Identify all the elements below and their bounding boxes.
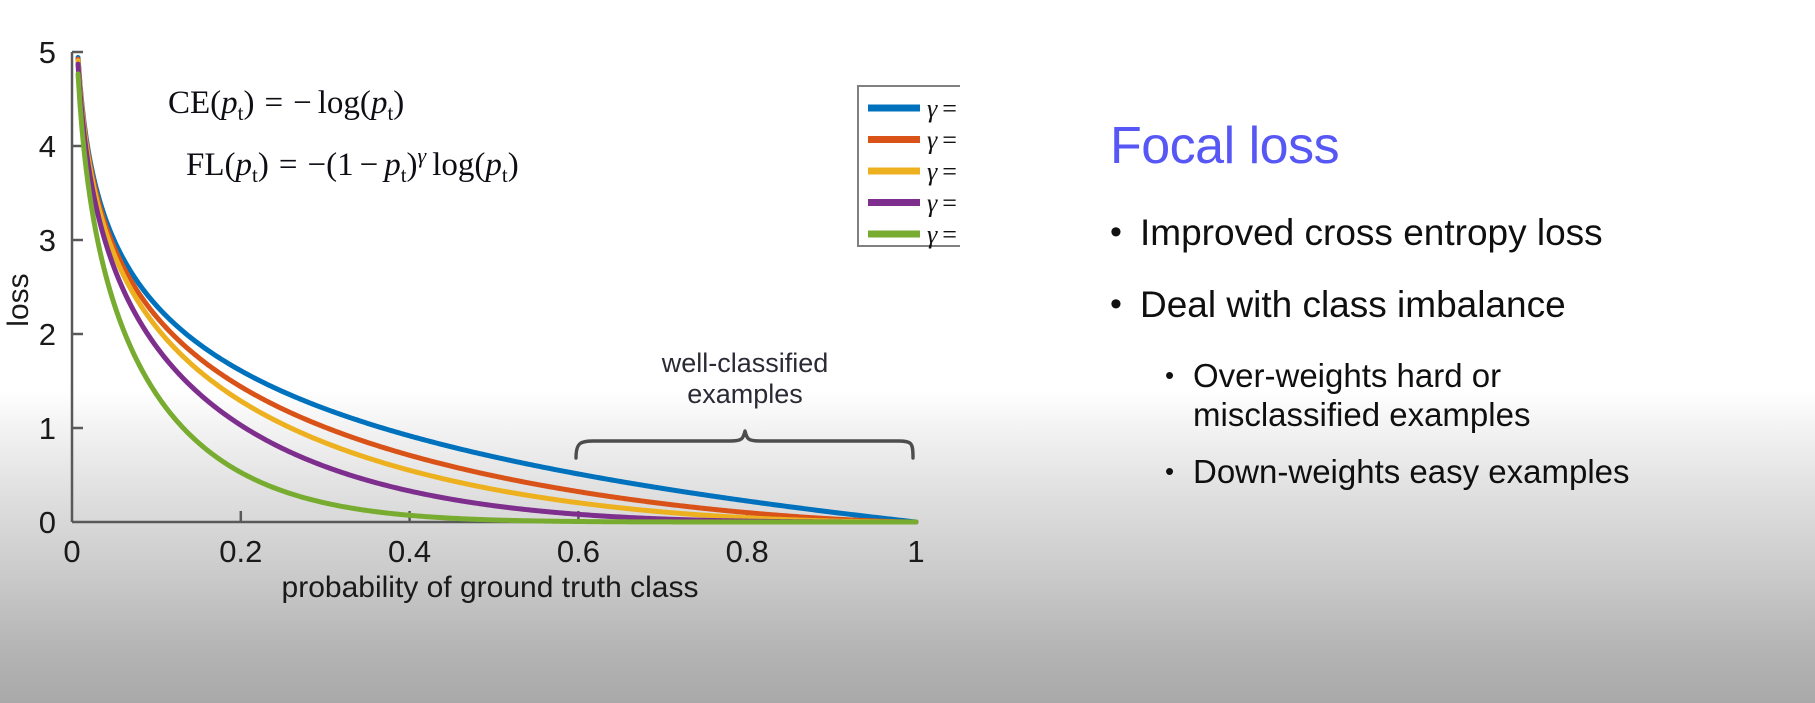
formula-cross-entropy: CE(pt)=−log(pt) (168, 85, 404, 125)
sub-bullet-line-2: misclassified examples (1193, 396, 1530, 433)
legend-label: γ=5 (927, 220, 960, 249)
y-tick-label: 0 (39, 505, 56, 540)
series-line (78, 64, 916, 522)
x-tick-label: 0.2 (219, 534, 262, 569)
x-axis-tick-labels: 00.20.40.60.81 (63, 534, 924, 569)
series-line (78, 59, 916, 522)
x-tick-label: 0.4 (388, 534, 431, 569)
list-item: • Over-weights hard ormisclassified exam… (1110, 356, 1810, 434)
curly-brace-icon (576, 431, 913, 458)
y-axis-title: loss (2, 273, 35, 326)
list-item: • Down-weights easy examples (1110, 452, 1810, 491)
focal-loss-text-panel: Focal loss • Improved cross entropy loss… (1110, 120, 1810, 503)
sub-bullet-text-2: Down-weights easy examples (1193, 452, 1630, 491)
x-tick-label: 0.6 (557, 534, 600, 569)
legend-label: γ=2 (927, 189, 960, 218)
x-tick-label: 0 (63, 534, 80, 569)
bullet-glyph: • (1110, 212, 1140, 252)
sub-bullet-text-1: Over-weights hard ormisclassified exampl… (1193, 356, 1530, 434)
series-line (78, 57, 916, 522)
y-tick-label: 4 (39, 129, 56, 164)
chart-svg: 012345 00.20.40.60.81 loss probability o… (0, 0, 960, 703)
y-tick-label: 3 (39, 223, 56, 258)
page-title: Focal loss (1110, 120, 1810, 172)
x-tick-label: 0.8 (726, 534, 769, 569)
bullet-text-2: Deal with class imbalance (1140, 284, 1566, 326)
sub-bullet-list: • Over-weights hard ormisclassified exam… (1110, 356, 1810, 491)
annotation-line-2: examples (687, 379, 803, 409)
list-item: • Improved cross entropy loss (1110, 212, 1810, 254)
y-tick-label: 5 (39, 35, 56, 70)
bullet-glyph: • (1165, 356, 1193, 394)
legend-label: γ=0 (927, 94, 960, 123)
formula-focal-loss: FL(pt)=−(1−pt)γlog(pt) (186, 143, 519, 187)
x-axis-title: probability of ground truth class (282, 571, 699, 604)
sub-bullet-line-1: Over-weights hard or (1193, 357, 1501, 394)
bullet-glyph: • (1110, 284, 1140, 324)
chart-legend: γ=0γ=0.5γ=1γ=2γ=5 (858, 86, 960, 249)
chart-axes (72, 52, 916, 522)
focal-loss-chart: 012345 00.20.40.60.81 loss probability o… (0, 0, 960, 703)
y-tick-label: 2 (39, 317, 56, 352)
legend-label: γ=1 (927, 157, 960, 186)
bullet-glyph: • (1165, 452, 1193, 490)
y-tick-label: 1 (39, 411, 56, 446)
slide-canvas: 012345 00.20.40.60.81 loss probability o… (0, 0, 1815, 703)
bullet-text-1: Improved cross entropy loss (1140, 212, 1603, 254)
well-classified-annotation: well-classified examples (576, 348, 913, 458)
chart-series-group (78, 57, 916, 522)
x-tick-label: 1 (907, 534, 924, 569)
y-axis-tick-labels: 012345 (39, 35, 56, 540)
list-item: • Deal with class imbalance (1110, 284, 1810, 326)
series-line (78, 61, 916, 522)
formula-group: CE(pt)=−log(pt) FL(pt)=−(1−pt)γlog(pt) (168, 85, 519, 187)
legend-label: γ=0.5 (927, 126, 960, 155)
annotation-line-1: well-classified (661, 348, 829, 378)
series-line (78, 74, 916, 522)
